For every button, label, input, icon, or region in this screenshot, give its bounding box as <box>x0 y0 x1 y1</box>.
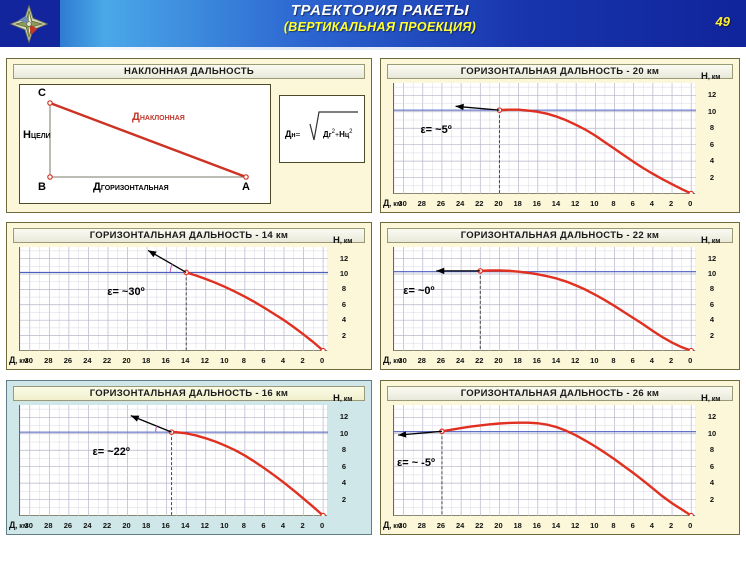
logo-container <box>0 0 60 47</box>
chart-svg <box>394 83 696 194</box>
x-axis-tick-label: 2 <box>664 199 678 208</box>
x-axis-tick-label: 30 <box>396 199 410 208</box>
y-axis-tick-label: 8 <box>337 284 351 293</box>
page-header: ТРАЕКТОРИЯ РАКЕТЫ (ВЕРТИКАЛЬНАЯ ПРОЕКЦИЯ… <box>0 0 746 47</box>
y-axis-tick-label: 2 <box>705 495 719 504</box>
panel-title-chart-22km: ГОРИЗОНТАЛЬНАЯ ДАЛЬНОСТЬ - 22 км <box>387 228 733 243</box>
x-axis-tick-label: 12 <box>568 356 582 365</box>
slant-range-formula: Дн= Дг2+Нц2 <box>279 95 365 163</box>
y-axis-tick-label: 12 <box>337 254 351 263</box>
x-axis-tick-label: 16 <box>530 521 544 530</box>
x-axis-tick-label: 24 <box>80 356 94 365</box>
x-axis-tick-label: 30 <box>396 356 410 365</box>
x-axis-tick-label: 10 <box>587 356 601 365</box>
x-axis-tick-label: 20 <box>120 521 134 530</box>
x-axis-tick-label: 22 <box>100 521 114 530</box>
elevation-angle-label: ε= ~ -5º <box>397 457 435 469</box>
x-axis-tick-label: 26 <box>61 356 75 365</box>
vertex-label-a: A <box>242 181 250 193</box>
x-axis-tick-label: 22 <box>472 356 486 365</box>
y-axis-tick-label: 12 <box>337 412 351 421</box>
y-axis-tick-label: 8 <box>705 445 719 454</box>
y-axis-title: H, км <box>701 71 720 82</box>
x-axis-tick-label: 30 <box>396 521 410 530</box>
elevation-angle-label: ε= ~5º <box>420 124 451 136</box>
chart-svg <box>20 405 328 516</box>
x-axis-tick-label: 20 <box>120 356 134 365</box>
x-axis-tick-label: 22 <box>472 199 486 208</box>
x-axis-tick-label: 18 <box>511 356 525 365</box>
panel-title-chart-26km: ГОРИЗОНТАЛЬНАЯ ДАЛЬНОСТЬ - 26 км <box>387 386 733 401</box>
panel-title-chart-14km: ГОРИЗОНТАЛЬНАЯ ДАЛЬНОСТЬ - 14 км <box>13 228 365 243</box>
y-axis-tick-label: 4 <box>705 315 719 324</box>
y-axis-tick-label: 4 <box>337 315 351 324</box>
star-compass-emblem-icon <box>10 5 48 43</box>
x-axis-tick-label: 0 <box>683 199 697 208</box>
x-axis-tick-label: 18 <box>139 356 153 365</box>
x-axis-tick-label: 20 <box>491 356 505 365</box>
x-axis-tick-label: 26 <box>434 199 448 208</box>
x-axis-tick-label: 0 <box>683 521 697 530</box>
plot-area <box>19 247 327 351</box>
x-axis-tick-label: 6 <box>626 521 640 530</box>
elevation-angle-label: ε= ~22º <box>93 446 130 458</box>
x-axis-tick-label: 8 <box>607 199 621 208</box>
x-axis-tick-label: 10 <box>587 521 601 530</box>
panel-chart-14km: ГОРИЗОНТАЛЬНАЯ ДАЛЬНОСТЬ - 14 км ε= ~30º… <box>6 222 372 370</box>
y-axis-tick-label: 12 <box>705 90 719 99</box>
y-axis-tick-label: 2 <box>337 331 351 340</box>
y-axis-tick-label: 10 <box>337 429 351 438</box>
x-axis-tick-label: 8 <box>607 356 621 365</box>
x-axis-tick-label: 2 <box>664 356 678 365</box>
chart-svg <box>394 247 696 351</box>
y-axis-tick-label: 4 <box>705 478 719 487</box>
y-axis-tick-label: 6 <box>705 462 719 471</box>
formula-left-side: Дн= <box>285 129 300 139</box>
x-axis-tick-label: 14 <box>549 356 563 365</box>
x-axis-tick-label: 28 <box>41 356 55 365</box>
x-axis-tick-label: 24 <box>453 356 467 365</box>
x-axis-tick-label: 18 <box>511 521 525 530</box>
y-axis-tick-label: 10 <box>705 269 719 278</box>
x-axis-tick-label: 24 <box>80 521 94 530</box>
vertex-label-b: B <box>38 181 46 193</box>
x-axis-tick-label: 12 <box>198 356 212 365</box>
trajectory-endpoint-marker <box>689 191 693 194</box>
x-axis-tick-label: 14 <box>549 521 563 530</box>
y-axis-tick-label: 4 <box>705 156 719 165</box>
elevation-angle-arrow <box>436 268 480 274</box>
x-axis-tick-label: 4 <box>645 521 659 530</box>
trajectory-endpoint-marker <box>321 348 325 351</box>
x-axis-tick-label: 8 <box>237 356 251 365</box>
x-axis-tick-label: 4 <box>276 521 290 530</box>
x-axis-tick-label: 2 <box>296 521 310 530</box>
x-axis-tick-label: 26 <box>61 521 75 530</box>
elevation-angle-arrow <box>148 250 186 272</box>
x-axis-tick-label: 10 <box>217 521 231 530</box>
x-axis-tick-label: 16 <box>530 356 544 365</box>
x-axis-tick-label: 8 <box>237 521 251 530</box>
x-axis-tick-label: 30 <box>22 356 36 365</box>
y-axis-tick-label: 8 <box>705 123 719 132</box>
y-axis-title: H, км <box>701 393 720 404</box>
x-axis-tick-label: 6 <box>626 199 640 208</box>
x-axis-tick-label: 6 <box>256 521 270 530</box>
chart-svg <box>20 247 328 351</box>
x-axis-tick-label: 28 <box>415 521 429 530</box>
label-target-height: НЦЕЛИ <box>23 129 51 141</box>
slant-range-diagram: C B A НЦЕЛИ ДНАКЛОННАЯ ДГОРИЗОНТАЛЬНАЯ <box>19 84 271 204</box>
y-axis-tick-label: 12 <box>705 412 719 421</box>
x-axis-tick-label: 12 <box>198 521 212 530</box>
panel-slant-range: НАКЛОННАЯ ДАЛЬНОСТЬ C B A НЦЕЛИ ДНАКЛОНН… <box>6 58 372 213</box>
x-axis-tick-label: 8 <box>607 521 621 530</box>
x-axis-tick-label: 22 <box>100 356 114 365</box>
x-axis-tick-label: 14 <box>178 356 192 365</box>
x-axis-tick-label: 16 <box>159 521 173 530</box>
x-axis-tick-label: 14 <box>178 521 192 530</box>
y-axis-tick-label: 10 <box>705 107 719 116</box>
page-title: ТРАЕКТОРИЯ РАКЕТЫ <box>150 3 610 20</box>
page-number: 49 <box>716 14 730 29</box>
plot-area <box>393 405 695 516</box>
x-axis-tick-label: 2 <box>296 356 310 365</box>
label-slant-distance: ДНАКЛОННАЯ <box>132 111 185 123</box>
y-axis-tick-label: 8 <box>705 284 719 293</box>
y-axis-tick-label: 6 <box>705 300 719 309</box>
trajectory-endpoint-marker <box>689 513 693 516</box>
label-horizontal-distance: ДГОРИЗОНТАЛЬНАЯ <box>93 181 169 193</box>
x-axis-tick-label: 0 <box>315 521 329 530</box>
x-axis-tick-label: 28 <box>415 356 429 365</box>
x-axis-tick-label: 26 <box>434 356 448 365</box>
panel-chart-20km: ГОРИЗОНТАЛЬНАЯ ДАЛЬНОСТЬ - 20 км ε= ~5ºД… <box>380 58 740 213</box>
x-axis-tick-label: 16 <box>530 199 544 208</box>
page-subtitle: (ВЕРТИКАЛЬНАЯ ПРОЕКЦИЯ) <box>150 20 610 34</box>
y-axis-tick-label: 2 <box>337 495 351 504</box>
y-axis-title: H, км <box>333 393 352 404</box>
y-axis-tick-label: 8 <box>337 445 351 454</box>
x-axis-tick-label: 18 <box>139 521 153 530</box>
panel-title-slant-range: НАКЛОННАЯ ДАЛЬНОСТЬ <box>13 64 365 79</box>
x-axis-tick-label: 28 <box>415 199 429 208</box>
x-axis-tick-label: 26 <box>434 521 448 530</box>
x-axis-tick-label: 14 <box>549 199 563 208</box>
header-title-block: ТРАЕКТОРИЯ РАКЕТЫ (ВЕРТИКАЛЬНАЯ ПРОЕКЦИЯ… <box>150 3 610 34</box>
x-axis-tick-label: 10 <box>587 199 601 208</box>
x-axis-tick-label: 20 <box>491 199 505 208</box>
plot-area <box>393 247 695 351</box>
x-axis-tick-label: 18 <box>511 199 525 208</box>
trajectory-curve <box>172 432 324 515</box>
x-axis-tick-label: 28 <box>41 521 55 530</box>
y-axis-tick-label: 6 <box>337 462 351 471</box>
x-axis-tick-label: 6 <box>626 356 640 365</box>
plot-area <box>393 83 695 194</box>
x-axis-tick-label: 6 <box>256 356 270 365</box>
elevation-angle-arrow <box>131 416 172 432</box>
x-axis-tick-label: 12 <box>568 199 582 208</box>
y-axis-tick-label: 10 <box>337 269 351 278</box>
y-axis-tick-label: 2 <box>705 331 719 340</box>
y-axis-tick-label: 2 <box>705 173 719 182</box>
x-axis-tick-label: 24 <box>453 521 467 530</box>
panel-chart-22km: ГОРИЗОНТАЛЬНАЯ ДАЛЬНОСТЬ - 22 км ε= ~0ºД… <box>380 222 740 370</box>
vertex-label-c: C <box>38 87 46 99</box>
elevation-angle-label: ε= ~30º <box>107 286 144 298</box>
x-axis-tick-label: 16 <box>159 356 173 365</box>
y-axis-tick-label: 12 <box>705 254 719 263</box>
x-axis-tick-label: 4 <box>645 199 659 208</box>
panel-title-chart-16km: ГОРИЗОНТАЛЬНАЯ ДАЛЬНОСТЬ - 16 км <box>13 386 365 401</box>
x-axis-tick-label: 4 <box>645 356 659 365</box>
x-axis-tick-label: 0 <box>315 356 329 365</box>
plot-area <box>19 405 327 516</box>
x-axis-tick-label: 4 <box>276 356 290 365</box>
y-axis-title: H, км <box>701 235 720 246</box>
y-axis-tick-label: 6 <box>337 300 351 309</box>
x-axis-tick-label: 10 <box>217 356 231 365</box>
header-underline <box>0 47 746 50</box>
x-axis-tick-label: 22 <box>472 521 486 530</box>
y-axis-tick-label: 10 <box>705 429 719 438</box>
trajectory-endpoint-marker <box>321 513 325 516</box>
x-axis-tick-label: 20 <box>491 521 505 530</box>
y-axis-tick-label: 6 <box>705 140 719 149</box>
panel-chart-16km: ГОРИЗОНТАЛЬНАЯ ДАЛЬНОСТЬ - 16 км ε= ~22º… <box>6 380 372 535</box>
formula-radicand: Дг2+Нц2 <box>323 129 353 139</box>
panel-title-chart-20km: ГОРИЗОНТАЛЬНАЯ ДАЛЬНОСТЬ - 20 км <box>387 64 733 79</box>
x-axis-tick-label: 2 <box>664 521 678 530</box>
chart-svg <box>394 405 696 516</box>
elevation-angle-label: ε= ~0º <box>403 285 434 297</box>
x-axis-tick-label: 12 <box>568 521 582 530</box>
x-axis-tick-label: 24 <box>453 199 467 208</box>
trajectory-endpoint-marker <box>689 348 693 351</box>
y-axis-title: H, км <box>333 235 352 246</box>
panel-chart-26km: ГОРИЗОНТАЛЬНАЯ ДАЛЬНОСТЬ - 26 км ε= ~ -5… <box>380 380 740 535</box>
x-axis-tick-label: 30 <box>22 521 36 530</box>
elevation-angle-arrow <box>456 104 500 110</box>
y-axis-tick-label: 4 <box>337 478 351 487</box>
x-axis-tick-label: 0 <box>683 356 697 365</box>
